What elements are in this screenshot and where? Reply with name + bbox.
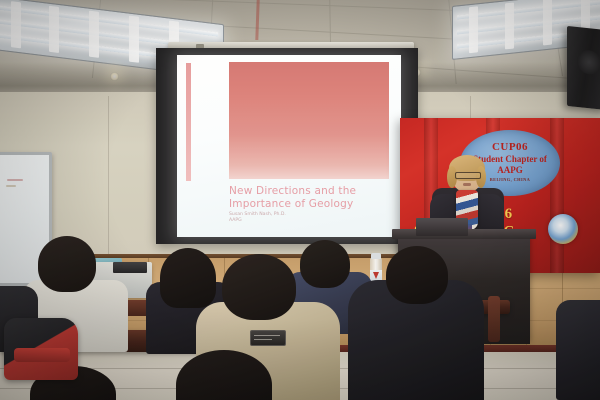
equipment-panel: [113, 262, 147, 273]
slide-image-block: [229, 62, 389, 179]
slide-title-line1: New Directions and the: [229, 185, 399, 198]
whiteboard-marking: [7, 179, 23, 181]
lecture-hall-photo: New Directions and the Importance of Geo…: [0, 0, 600, 400]
projected-slide: New Directions and the Importance of Geo…: [177, 55, 401, 237]
backpack-panel: [14, 348, 70, 362]
backpack: [4, 318, 78, 380]
slide-accent-bar: [186, 63, 191, 181]
slide-title: New Directions and the Importance of Geo…: [229, 185, 399, 210]
podium-laptop: [416, 218, 468, 236]
wall-seam-left: [108, 96, 109, 258]
bench-armrest-right: [488, 296, 500, 342]
attendee-beige-jacket-head: [222, 254, 296, 320]
slide-organization: AAPG: [229, 218, 389, 224]
banner-ellipse-line1: CUP06: [460, 141, 560, 153]
chapter-emblem-icon: [548, 214, 578, 244]
attendee-black-coat-center-head: [386, 246, 448, 304]
attendee-navy-hoodie-head: [300, 240, 350, 288]
attendee-white-jacket-head: [38, 236, 96, 292]
projection-screen: New Directions and the Importance of Geo…: [156, 48, 418, 244]
whiteboard-marking-secondary: [6, 185, 16, 187]
attendee-right-edge: [556, 300, 600, 400]
slide-subtitle: Susan Smith Nash, Ph.D. AAPG: [229, 212, 389, 224]
wall-loudspeaker-icon: [567, 26, 600, 110]
eyeglasses-icon: [455, 172, 481, 179]
slide-title-line2: Importance of Geology: [229, 198, 399, 211]
attendee-long-hair-head: [160, 248, 216, 308]
presenter-mouth: [463, 183, 471, 186]
speaker-cone: [577, 49, 600, 76]
jacket-label-patch: [250, 330, 286, 346]
bottle-cap: [371, 253, 381, 259]
